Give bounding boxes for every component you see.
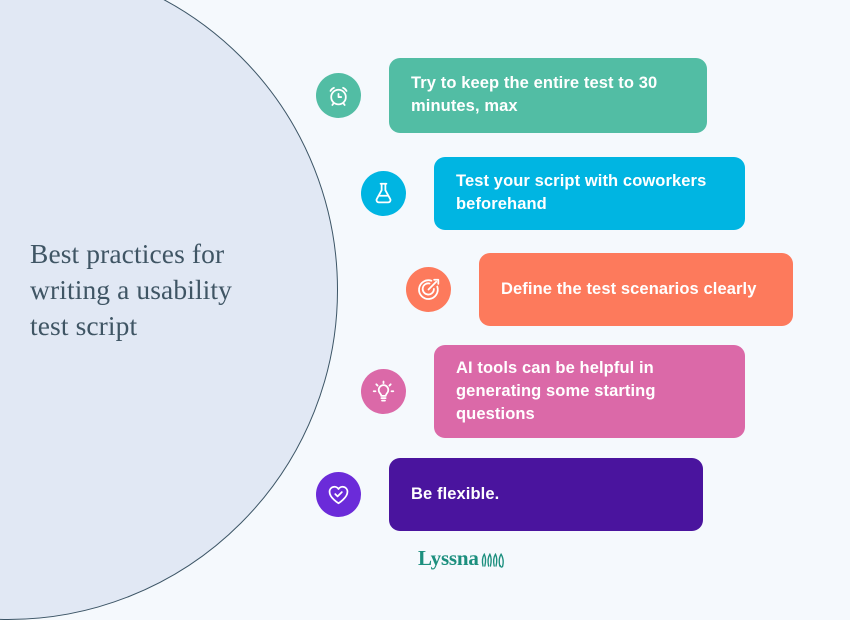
practice-card-3-text: Define the test scenarios clearly xyxy=(501,278,757,301)
page-title-line-1: Best practices for xyxy=(30,238,224,269)
practice-card-1-text: Try to keep the entire test to 30 minute… xyxy=(411,72,685,118)
target-pencil-icon xyxy=(416,277,441,302)
page-title-line-3: test script xyxy=(30,310,137,341)
practice-item-5: Be flexible. xyxy=(316,458,703,531)
practice-item-2: Test your script with coworkers beforeha… xyxy=(361,157,745,230)
practice-card-4-text: AI tools can be helpful in generating so… xyxy=(456,357,723,426)
practice-card-3: Define the test scenarios clearly xyxy=(479,253,793,326)
page-title-text: Best practices forwriting a usabilitytes… xyxy=(30,236,298,344)
practice-card-2-text: Test your script with coworkers beforeha… xyxy=(456,170,723,216)
practice-item-1: Try to keep the entire test to 30 minute… xyxy=(316,58,707,133)
lightbulb-icon xyxy=(371,379,396,404)
page-title: Best practices forwriting a usabilitytes… xyxy=(30,236,298,344)
sound-wave-icon xyxy=(480,551,508,568)
practice-card-5: Be flexible. xyxy=(389,458,703,531)
practice-card-2: Test your script with coworkers beforeha… xyxy=(434,157,745,230)
heart-check-icon-badge xyxy=(316,472,361,517)
alarm-clock-icon-badge xyxy=(316,73,361,118)
practice-card-1: Try to keep the entire test to 30 minute… xyxy=(389,58,707,133)
infographic-canvas: Best practices forwriting a usabilitytes… xyxy=(0,0,850,591)
flask-icon xyxy=(371,181,396,206)
heart-check-icon xyxy=(326,482,351,507)
target-pencil-icon-badge xyxy=(406,267,451,312)
alarm-clock-icon xyxy=(326,83,351,108)
practice-item-4: AI tools can be helpful in generating so… xyxy=(361,345,745,438)
practice-card-5-text: Be flexible. xyxy=(411,483,499,506)
practice-card-4: AI tools can be helpful in generating so… xyxy=(434,345,745,438)
page-title-line-2: writing a usability xyxy=(30,274,232,305)
lyssna-logo: Lyssna xyxy=(418,548,508,569)
lightbulb-icon-badge xyxy=(361,369,406,414)
flask-icon-badge xyxy=(361,171,406,216)
lyssna-wordmark: Lyssna xyxy=(418,548,479,569)
practice-item-3: Define the test scenarios clearly xyxy=(406,253,793,326)
